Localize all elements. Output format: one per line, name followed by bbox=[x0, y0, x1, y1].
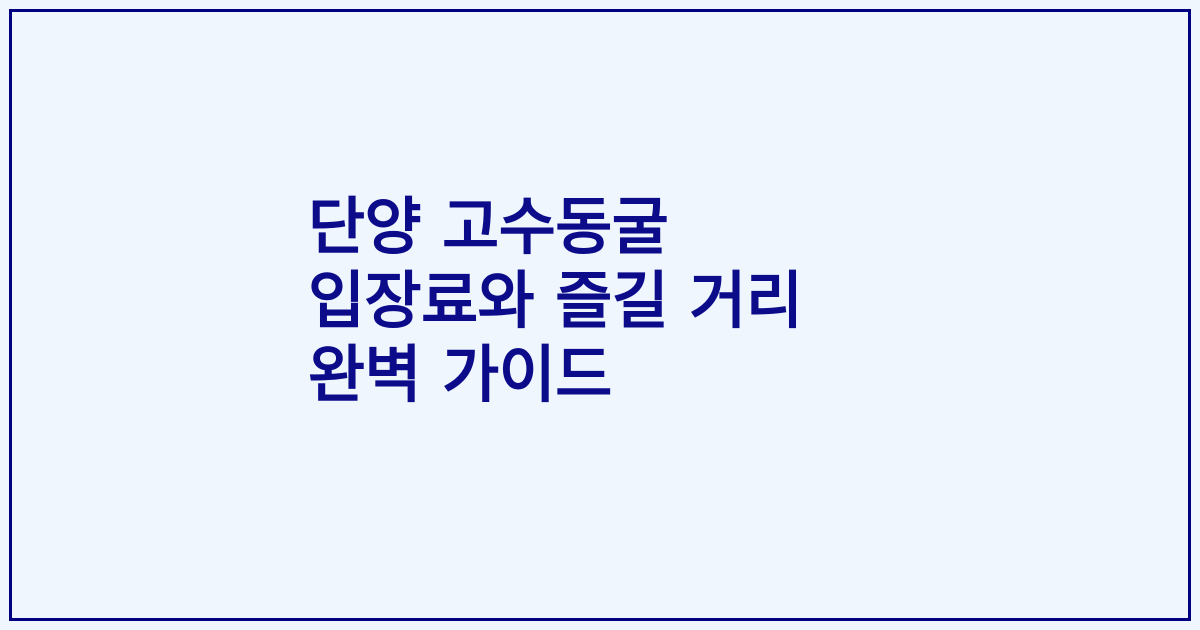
page-title: 단양 고수동굴 입장료와 즐길 거리 완벽 가이드 bbox=[308, 190, 988, 412]
title-line-3: 완벽 가이드 bbox=[308, 338, 988, 412]
card-border-frame: 단양 고수동굴 입장료와 즐길 거리 완벽 가이드 bbox=[9, 9, 1191, 621]
thumbnail-card: 단양 고수동굴 입장료와 즐길 거리 완벽 가이드 bbox=[0, 0, 1200, 630]
title-line-1: 단양 고수동굴 bbox=[308, 190, 988, 264]
title-line-2: 입장료와 즐길 거리 bbox=[308, 264, 988, 338]
